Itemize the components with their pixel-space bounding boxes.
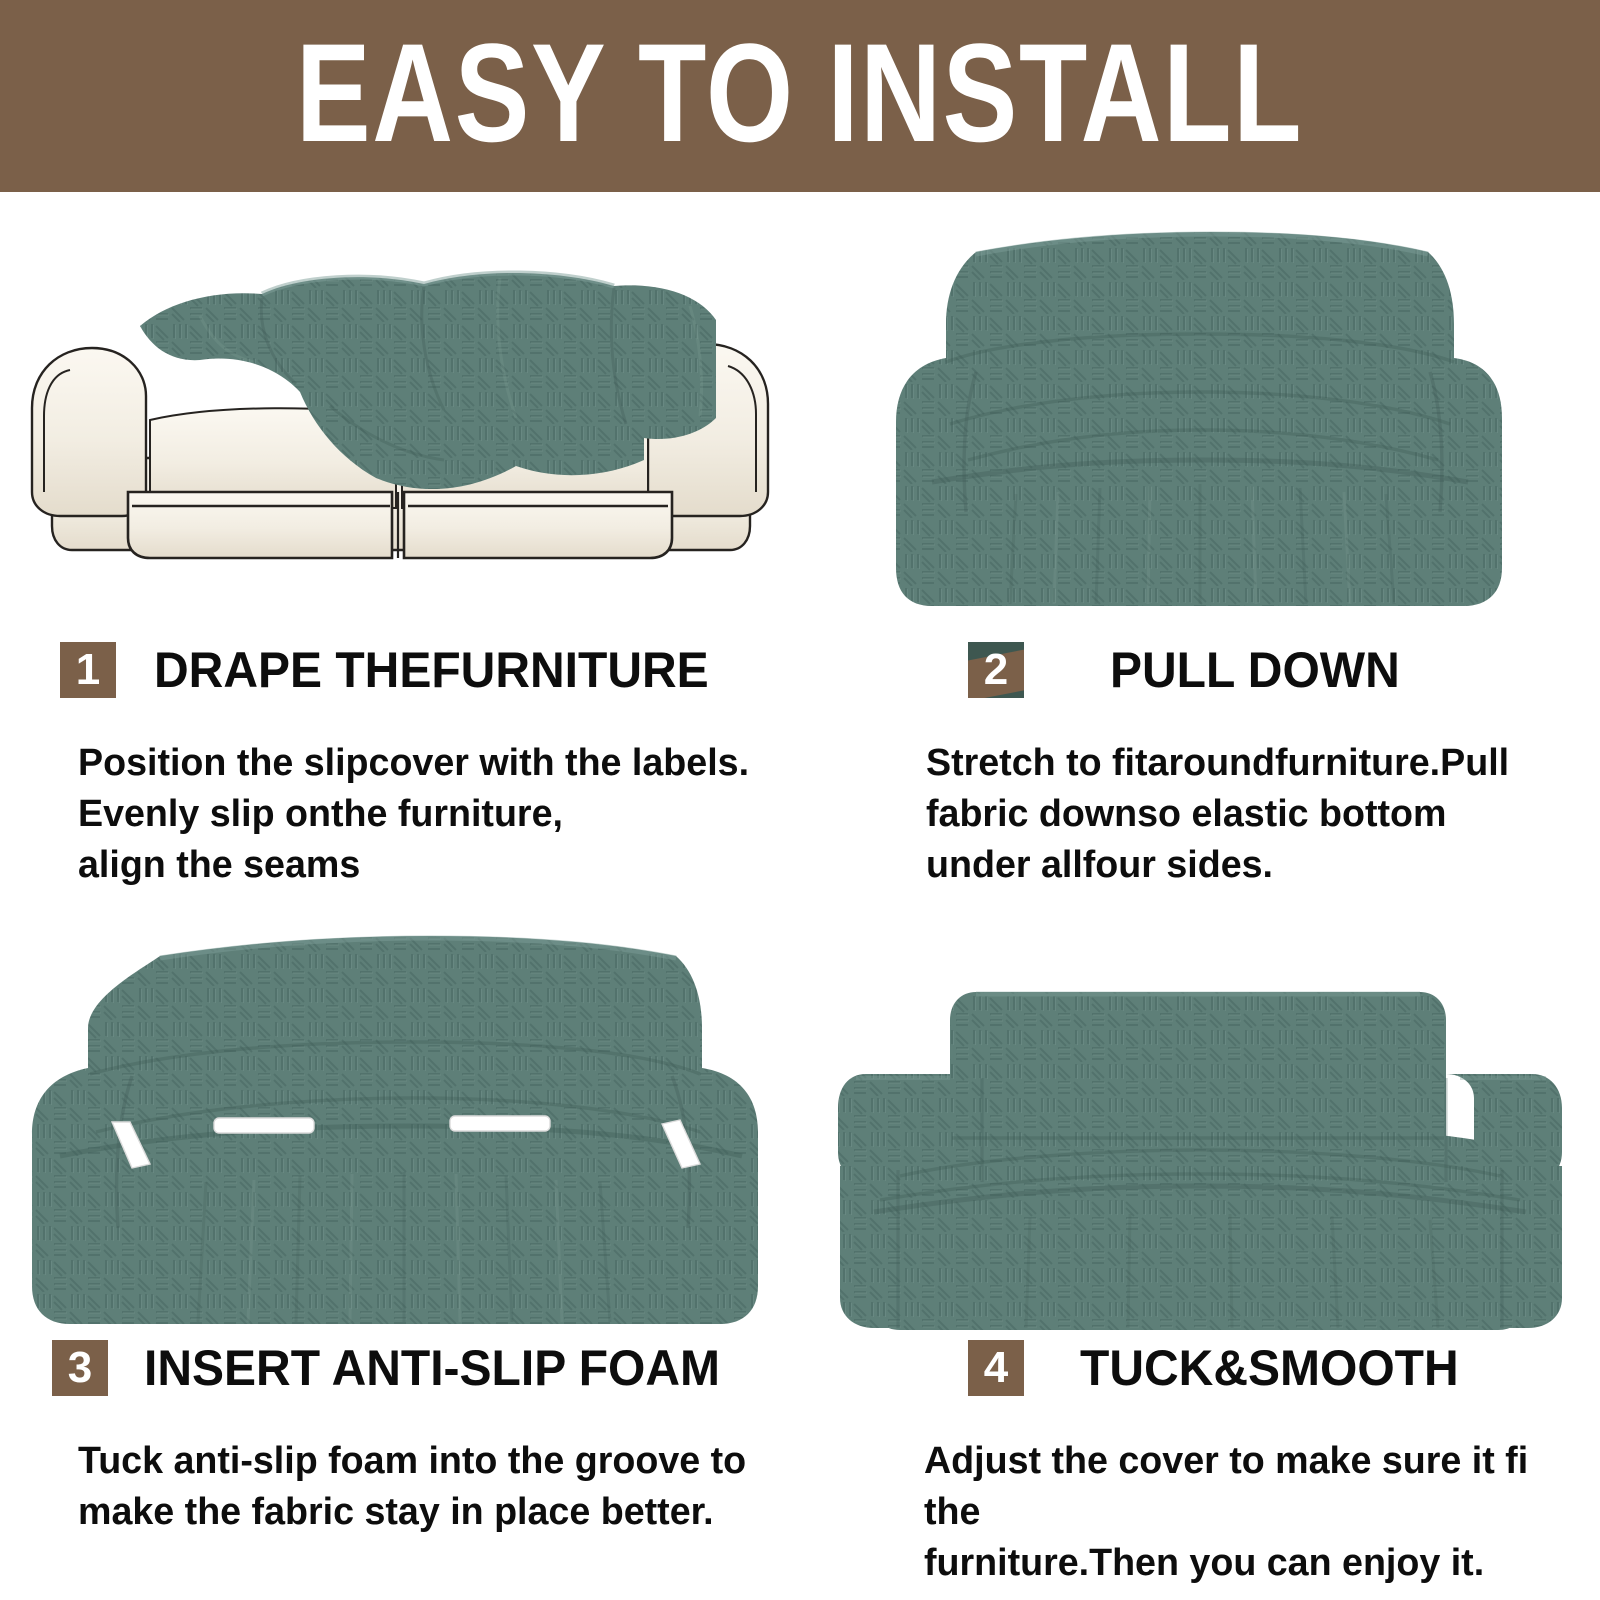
step-2-heading: 2 PULL DOWN — [968, 642, 1412, 698]
page-title: EASY TO INSTALL — [296, 18, 1303, 168]
step-card-3: 3 INSERT ANTI-SLIP FOAM Tuck anti-slip f… — [0, 896, 800, 1600]
step-4-description: Adjust the cover to make sure it fi the … — [924, 1436, 1593, 1589]
covered-loveseat-with-foam — [32, 936, 758, 1324]
step-title-4: TUCK&SMOOTH — [1080, 1340, 1459, 1396]
step-3-image — [0, 918, 800, 1336]
final-fitted-loveseat — [838, 992, 1562, 1330]
step-number-3: 3 — [52, 1340, 108, 1396]
step-number-2: 2 — [968, 642, 1024, 698]
covered-loveseat — [896, 232, 1502, 606]
step-title-2: PULL DOWN — [1110, 642, 1400, 698]
step-4-heading: 4 TUCK&SMOOTH — [968, 1340, 1474, 1396]
step-card-2: 2 PULL DOWN Stretch to fitaroundfurnitur… — [800, 192, 1600, 896]
step-number-badge-2: 2 — [968, 642, 1024, 698]
header-banner: EASY TO INSTALL — [0, 0, 1600, 192]
step-4-image — [800, 926, 1600, 1338]
step-2-description: Stretch to fitaroundfurniture.Pull fabri… — [926, 738, 1509, 891]
step-number-badge-3: 3 — [52, 1340, 108, 1396]
step-number-badge-1: 1 — [60, 642, 116, 698]
step-title-1: DRAPE THEFURNITURE — [154, 642, 709, 698]
step-number-1: 1 — [60, 642, 116, 698]
step-3-heading: 3 INSERT ANTI-SLIP FOAM — [52, 1340, 744, 1396]
step-3-description: Tuck anti-slip foam into the groove to m… — [78, 1436, 746, 1538]
step-number-4: 4 — [968, 1340, 1024, 1396]
step-card-4: 4 TUCK&SMOOTH Adjust the cover to make s… — [800, 896, 1600, 1600]
steps-grid: 1 DRAPE THEFURNITURE Position the slipco… — [0, 192, 1600, 1600]
foam-strip-left-seat — [214, 1118, 314, 1133]
step-1-heading: 1 DRAPE THEFURNITURE — [60, 642, 732, 698]
step-1-description: Position the slipcover with the labels. … — [78, 738, 749, 891]
step-title-3: INSERT ANTI-SLIP FOAM — [144, 1340, 720, 1396]
step-1-image — [0, 220, 800, 620]
step-card-1: 1 DRAPE THEFURNITURE Position the slipco… — [0, 192, 800, 896]
step-number-badge-4: 4 — [968, 1340, 1024, 1396]
foam-strip-right-seat — [450, 1116, 550, 1131]
step-2-image — [800, 212, 1600, 622]
